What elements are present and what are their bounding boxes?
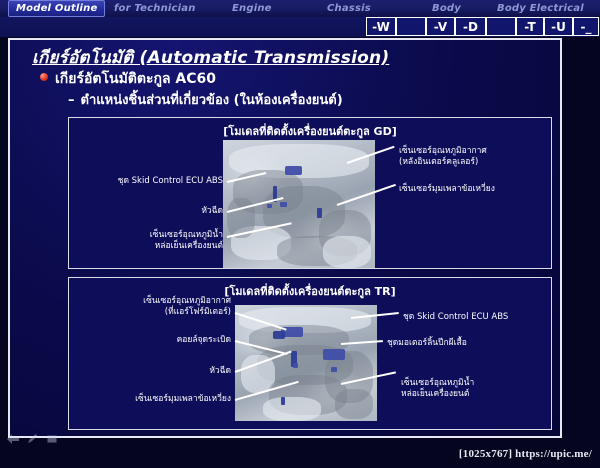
callout-label: ชุด Skid Control ECU ABS (83, 176, 223, 187)
callout-label: หล่อเย็นเครื่องยนต์ (91, 241, 223, 252)
callout-label: (หลังอินเตอร์คลูเลอร์) (399, 157, 549, 168)
callout-label: เซ็นเซอร์มุมเพลาข้อเหวี่ยง (399, 184, 559, 195)
engine-part-shade (263, 397, 321, 421)
panel-gd-engine: [โมเดลที่ติดตั้งเครื่องยนต์ตะกูล GD] ชุด… (68, 117, 552, 269)
callout-label: หัวฉีด (187, 366, 231, 377)
top-navigation-bar: Model Outlinefor TechnicianEngineChassis… (0, 0, 600, 18)
callout-label: คอยล์จุดระเบิด (133, 335, 231, 346)
highlighted-component (317, 208, 322, 218)
nav-tab-chassis[interactable]: Chassis (327, 1, 371, 16)
engine-part-shade (335, 389, 373, 419)
nav-item-list: Model Outlinefor TechnicianEngineChassis… (0, 0, 600, 17)
engine-part-shade (323, 236, 371, 268)
square-icon[interactable] (46, 433, 58, 445)
callout-label: หัวฉีด (179, 206, 223, 217)
nav-tab-body[interactable]: Body (432, 1, 461, 16)
model-code-cell-6[interactable]: -U (544, 17, 573, 36)
callout-label: เซ็นเซอร์อุณหภูมิน้ำ (91, 230, 223, 241)
bullet-dot-icon (40, 73, 48, 81)
back-arrow-icon[interactable] (6, 433, 20, 445)
viewer-toolbar[interactable] (4, 431, 94, 447)
model-code-cell-1[interactable] (396, 17, 426, 36)
callout-label: (ที่แอร์โฟร์มิเตอร์) (85, 307, 231, 318)
nav-tab-engine[interactable]: Engine (232, 1, 272, 16)
model-code-cell-0[interactable]: -W (366, 17, 396, 36)
highlighted-component (331, 367, 337, 372)
highlighted-component (323, 349, 345, 360)
highlighted-component (293, 363, 298, 368)
callout-label: เซ็นเซอร์อุณหภูมิอากาศ (399, 146, 549, 157)
model-code-cell-3[interactable]: -D (455, 17, 486, 36)
callout-label: หล่อเย็นเครื่องยนต์ (401, 389, 541, 400)
panel-tr-engine: [โมเดลที่ติดตั้งเครื่องยนต์ตะกูล TR] เซ็… (68, 277, 552, 430)
slide-frame: เกียร์อัตโนมัติ (Automatic Transmission)… (8, 38, 562, 438)
callout-label: เซ็นเซอร์มุมเพลาข้อเหวี่ยง (71, 394, 231, 405)
nav-tab-body-electrical[interactable]: Body Electrical (497, 1, 584, 16)
model-code-cell-5[interactable]: -T (516, 17, 544, 36)
pen-icon[interactable] (26, 433, 39, 445)
callout-label: เซ็นเซอร์อุณหภูมิน้ำ (401, 378, 541, 389)
sub-bullet-label: ตำแหน่งชิ้นส่วนที่เกี่ยวข้อง (ในห้องเครื… (81, 93, 343, 108)
panel-gd-title: [โมเดลที่ติดตั้งเครื่องยนต์ตะกูล GD] (69, 122, 551, 140)
callout-label: เซ็นเซอร์อุณหภูมิอากาศ (85, 296, 231, 307)
highlighted-component (267, 204, 272, 208)
sub-bullet-dash: – (68, 93, 75, 108)
model-code-cell-4[interactable] (486, 17, 516, 36)
model-code-bar: -W-V-D-T-U-_ (0, 17, 600, 37)
highlighted-component (285, 166, 302, 175)
page-title: เกียร์อัตโนมัติ (Automatic Transmission) (32, 44, 389, 71)
highlighted-component (273, 331, 285, 339)
bullet-row: เกียร์อัตโนมัติตะกูล AC60 (40, 68, 216, 90)
nav-tab-model-outline[interactable]: Model Outline (8, 0, 105, 17)
image-credit: [1025x767] https://upic.me/ (459, 448, 592, 460)
callout-label: ชุดมอเตอร์ลิ้นปีกผีเสื้อ (387, 338, 537, 349)
highlighted-component (280, 202, 287, 207)
model-code-cell-7[interactable]: -_ (573, 17, 599, 36)
highlighted-component (281, 397, 285, 405)
bullet-label: เกียร์อัตโนมัติตะกูล AC60 (55, 68, 216, 90)
slide-content: เกียร์อัตโนมัติ (Automatic Transmission)… (10, 40, 560, 436)
model-code-cell-2[interactable]: -V (426, 17, 455, 36)
screenshot-root: Model Outlinefor TechnicianEngineChassis… (0, 0, 600, 468)
sub-bullet-row: –ตำแหน่งชิ้นส่วนที่เกี่ยวข้อง (ในห้องเคร… (68, 89, 343, 110)
callout-label: ชุด Skid Control ECU ABS (403, 312, 553, 323)
nav-tab-for-technician[interactable]: for Technician (114, 1, 196, 16)
